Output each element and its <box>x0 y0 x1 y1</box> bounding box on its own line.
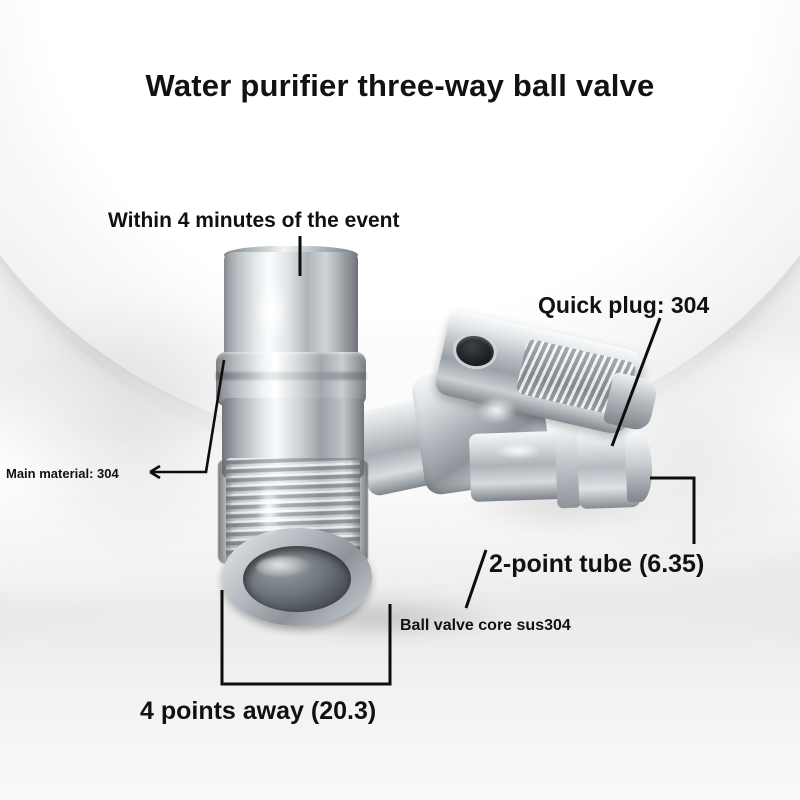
collar-groove <box>216 372 366 380</box>
highlight-thread <box>252 470 286 548</box>
callout-quick-plug: Quick plug: 304 <box>538 292 709 319</box>
callout-two-point-tube: 2-point tube (6.35) <box>489 550 704 579</box>
highlight-nut <box>250 268 294 354</box>
quick-plug-cap <box>625 432 653 503</box>
highlight-barrel <box>486 440 550 462</box>
thread-edge-left <box>218 460 232 564</box>
page-title: Water purifier three-way ball valve <box>0 68 800 104</box>
callout-within-4-minutes: Within 4 minutes of the event <box>108 209 400 233</box>
callout-main-material: Main material: 304 <box>6 466 119 481</box>
product-photo-screenshot: Water purifier three-way ball valve With… <box>0 0 800 800</box>
outlet-bore <box>243 546 351 612</box>
callout-ball-valve-core: Ball valve core sus304 <box>400 617 571 635</box>
highlight-ball <box>470 392 524 428</box>
ball-valve-product <box>0 0 800 800</box>
outlet-highlight <box>256 556 312 578</box>
lever-handle-tip <box>603 371 660 432</box>
callout-four-points-away: 4 points away (20.3) <box>140 697 376 726</box>
